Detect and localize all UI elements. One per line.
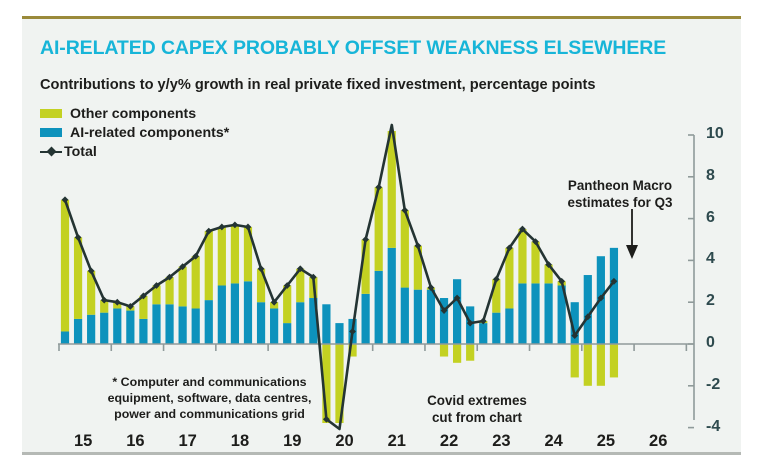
bar-ai-2016Q2 bbox=[126, 311, 134, 344]
bar-ai-2023Q3 bbox=[505, 308, 513, 344]
annotation-covid-line2: cut from chart bbox=[397, 409, 557, 426]
footnote-line2: equipment, software, data centres, bbox=[77, 390, 342, 406]
x-tick-label-23: 23 bbox=[481, 432, 521, 451]
annotation-pantheon-estimates: Pantheon Macro estimates for Q3 bbox=[535, 177, 705, 211]
chart-footnote: * Computer and communications equipment,… bbox=[77, 374, 342, 422]
bar-ai-2025Q3 bbox=[610, 248, 618, 344]
bar-other-2017Q3 bbox=[192, 256, 200, 308]
x-tick-label-15: 15 bbox=[63, 432, 103, 451]
bar-other-2015Q2 bbox=[74, 237, 82, 319]
bar-ai-2017Q2 bbox=[179, 306, 187, 344]
bar-ai-2015Q2 bbox=[74, 319, 82, 344]
x-tick-label-17: 17 bbox=[168, 432, 208, 451]
bar-ai-2021Q2 bbox=[388, 248, 396, 344]
bar-other-neg-2022Q2 bbox=[440, 344, 448, 357]
x-tick-label-25: 25 bbox=[586, 432, 626, 451]
y-tick-label-4: 4 bbox=[706, 250, 715, 268]
y-tick-label-10: 10 bbox=[706, 125, 724, 143]
bar-ai-2022Q3 bbox=[453, 279, 461, 344]
bar-ai-2016Q3 bbox=[139, 319, 147, 344]
bar-other-2018Q2 bbox=[231, 225, 239, 284]
bar-ai-2020Q4 bbox=[362, 294, 370, 344]
footnote-line3: power and communications grid bbox=[77, 406, 342, 422]
x-tick-label-20: 20 bbox=[325, 432, 365, 451]
y-tick-label-6: 6 bbox=[706, 209, 715, 227]
x-tick-label-16: 16 bbox=[115, 432, 155, 451]
annotation-covid-extremes: Covid extremes cut from chart bbox=[397, 392, 557, 426]
bar-ai-2020Q1 bbox=[322, 304, 330, 344]
bar-ai-2025Q1 bbox=[584, 275, 592, 344]
bar-ai-2017Q1 bbox=[165, 304, 173, 344]
x-tick-label-21: 21 bbox=[377, 432, 417, 451]
x-tick-label-18: 18 bbox=[220, 432, 260, 451]
bar-ai-2016Q4 bbox=[152, 304, 160, 344]
bar-other-neg-2024Q4 bbox=[571, 344, 579, 377]
bar-other-2023Q4 bbox=[518, 229, 526, 283]
annotation-covid-line1: Covid extremes bbox=[397, 392, 557, 409]
y-tick-label-8: 8 bbox=[706, 167, 715, 185]
bar-other-neg-2025Q1 bbox=[584, 344, 592, 386]
bar-ai-2021Q3 bbox=[401, 288, 409, 344]
bar-other-2018Q1 bbox=[218, 227, 226, 286]
y-tick-label-2: 2 bbox=[706, 292, 715, 310]
bar-ai-2019Q2 bbox=[283, 323, 291, 344]
bar-ai-2023Q2 bbox=[492, 313, 500, 344]
bar-other-2017Q2 bbox=[179, 267, 187, 307]
bar-ai-2017Q3 bbox=[192, 308, 200, 344]
bar-ai-2024Q1 bbox=[531, 283, 539, 344]
y-tick-label-0: 0 bbox=[706, 334, 715, 352]
bar-other-neg-2022Q4 bbox=[466, 344, 474, 361]
bar-ai-2020Q2 bbox=[335, 323, 343, 344]
bar-ai-2018Q1 bbox=[218, 285, 226, 344]
pantheon-arrow-head bbox=[626, 245, 638, 259]
bar-other-neg-2025Q3 bbox=[610, 344, 618, 377]
annotation-arrow-layer bbox=[626, 209, 638, 259]
bar-other-2017Q4 bbox=[205, 231, 213, 300]
bar-other-2021Q3 bbox=[401, 210, 409, 287]
bar-ai-2019Q3 bbox=[296, 302, 304, 344]
bar-ai-2024Q2 bbox=[544, 283, 552, 344]
bar-ai-2021Q1 bbox=[375, 271, 383, 344]
bar-ai-2023Q4 bbox=[518, 283, 526, 344]
x-tick-label-22: 22 bbox=[429, 432, 469, 451]
bar-ai-2019Q1 bbox=[270, 308, 278, 344]
y-tick-label--4: -4 bbox=[706, 418, 720, 436]
chart-page: AI-RELATED CAPEX PROBABLY OFFSET WEAKNES… bbox=[0, 0, 763, 471]
x-tick-label-26: 26 bbox=[638, 432, 678, 451]
bar-ai-2018Q3 bbox=[244, 281, 252, 344]
bar-ai-2018Q2 bbox=[231, 283, 239, 344]
bar-ai-2022Q1 bbox=[427, 290, 435, 344]
footnote-line1: * Computer and communications bbox=[77, 374, 342, 390]
bar-other-2017Q1 bbox=[165, 277, 173, 304]
bar-ai-2016Q1 bbox=[113, 308, 121, 344]
bar-ai-2018Q4 bbox=[257, 302, 265, 344]
bar-ai-2015Q3 bbox=[87, 315, 95, 344]
annotation-pantheon-line1: Pantheon Macro bbox=[535, 177, 705, 194]
bar-ai-2015Q1 bbox=[61, 331, 69, 344]
bar-other-neg-2022Q3 bbox=[453, 344, 461, 363]
bar-ai-2021Q4 bbox=[414, 290, 422, 344]
x-tick-label-19: 19 bbox=[272, 432, 312, 451]
bar-ai-2015Q4 bbox=[100, 313, 108, 344]
bar-ai-2023Q1 bbox=[479, 323, 487, 344]
annotation-pantheon-line2: estimates for Q3 bbox=[535, 194, 705, 211]
bar-other-neg-2025Q2 bbox=[597, 344, 605, 386]
bar-ai-2017Q4 bbox=[205, 300, 213, 344]
bar-other-2015Q1 bbox=[61, 200, 69, 332]
x-tick-label-24: 24 bbox=[534, 432, 574, 451]
y-tick-label--2: -2 bbox=[706, 376, 720, 394]
chart-card: AI-RELATED CAPEX PROBABLY OFFSET WEAKNES… bbox=[22, 16, 741, 455]
